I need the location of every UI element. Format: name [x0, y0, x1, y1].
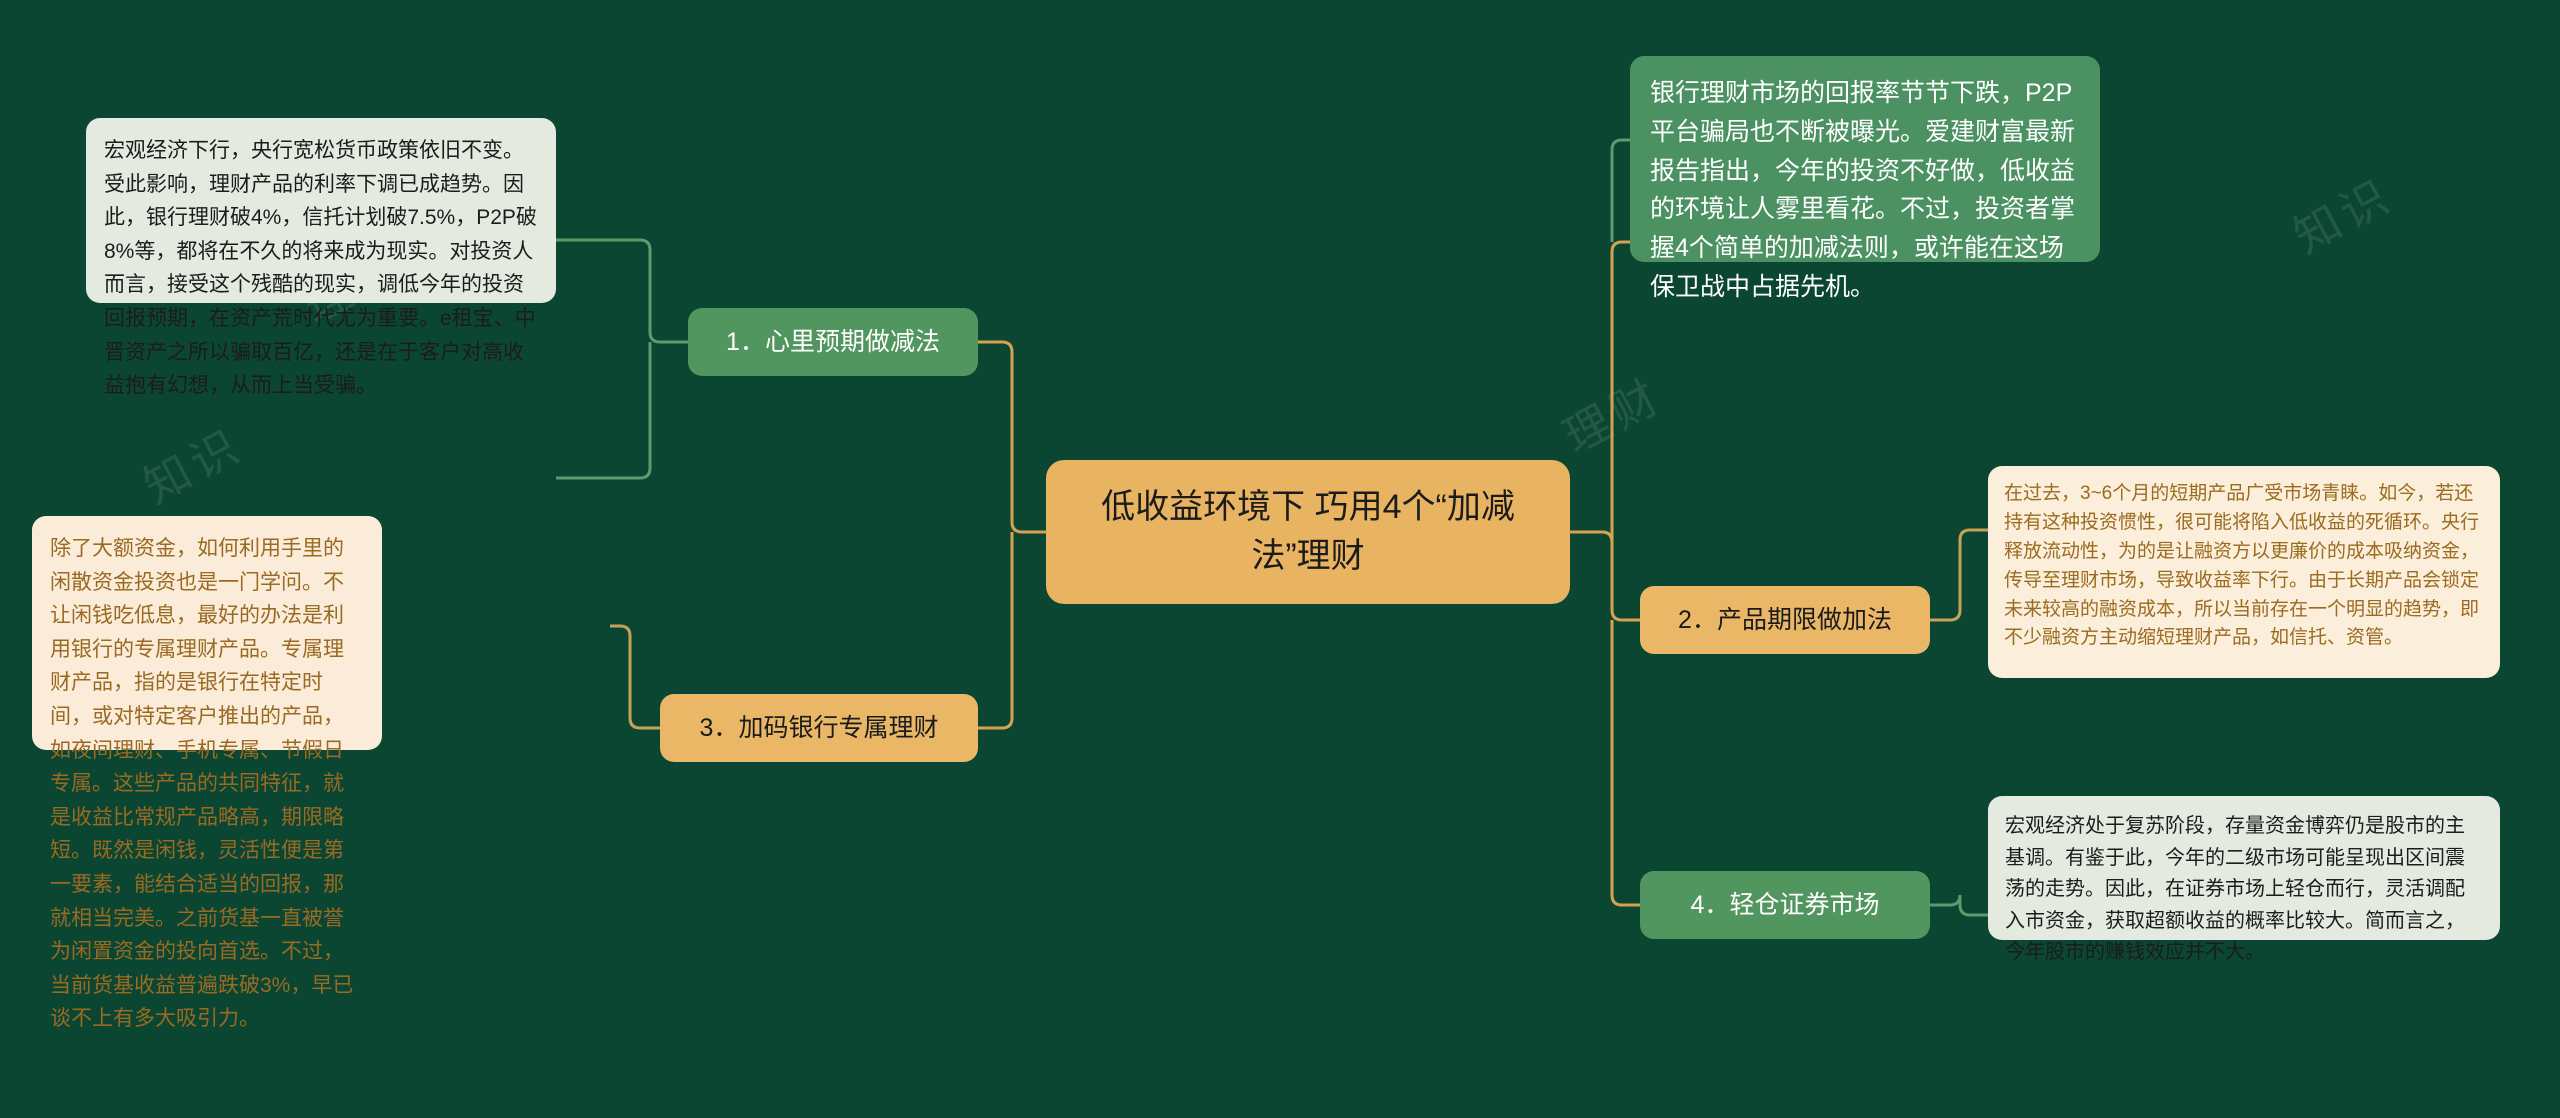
- intro-card-text: 银行理财市场的回报率节节下跌，P2P平台骗局也不断被曝光。爱建财富最新报告指出，…: [1650, 79, 2075, 301]
- branch-node-3-label: 3．加码银行专属理财: [700, 710, 939, 746]
- central-topic-node[interactable]: 低收益环境下 巧用4个“加减法”理财: [1046, 460, 1570, 604]
- branch-node-4[interactable]: 4．轻仓证券市场: [1640, 871, 1930, 939]
- detail-card-2-text: 在过去，3~6个月的短期产品广受市场青睐。如今，若还持有这种投资惯性，很可能将陷…: [2004, 483, 2479, 648]
- branch-node-2[interactable]: 2．产品期限做加法: [1640, 586, 1930, 654]
- watermark-text: 理财: [1551, 359, 1674, 466]
- intro-card: 银行理财市场的回报率节节下跌，P2P平台骗局也不断被曝光。爱建财富最新报告指出，…: [1630, 56, 2100, 262]
- branch-node-4-label: 4．轻仓证券市场: [1691, 887, 1880, 923]
- detail-card-1-text: 宏观经济下行，央行宽松货币政策依旧不变。受此影响，理财产品的利率下调已成趋势。因…: [104, 139, 537, 397]
- central-topic-label: 低收益环境下 巧用4个“加减法”理财: [1076, 483, 1540, 582]
- detail-card-1: 宏观经济下行，央行宽松货币政策依旧不变。受此影响，理财产品的利率下调已成趋势。因…: [86, 118, 556, 303]
- watermark-text: 知识: [131, 409, 254, 516]
- detail-card-3-text: 除了大额资金，如何利用手里的闲散资金投资也是一门学问。不让闲钱吃低息，最好的办法…: [50, 537, 353, 1030]
- branch-node-2-label: 2．产品期限做加法: [1678, 602, 1892, 638]
- detail-card-4: 宏观经济处于复苏阶段，存量资金博弈仍是股市的主基调。有鉴于此，今年的二级市场可能…: [1988, 796, 2500, 940]
- detail-card-3: 除了大额资金，如何利用手里的闲散资金投资也是一门学问。不让闲钱吃低息，最好的办法…: [32, 516, 382, 750]
- watermark-text: 知识: [2281, 159, 2404, 266]
- detail-card-4-text: 宏观经济处于复苏阶段，存量资金博弈仍是股市的主基调。有鉴于此，今年的二级市场可能…: [2005, 815, 2465, 963]
- mindmap-canvas: 理财 知识 理财 知识 低收益环境下 巧用4个“加减法”理财 1．心里预期做减法…: [0, 0, 2560, 1118]
- branch-node-1[interactable]: 1．心里预期做减法: [688, 308, 978, 376]
- branch-node-3[interactable]: 3．加码银行专属理财: [660, 694, 978, 762]
- detail-card-2: 在过去，3~6个月的短期产品广受市场青睐。如今，若还持有这种投资惯性，很可能将陷…: [1988, 466, 2500, 678]
- branch-node-1-label: 1．心里预期做减法: [726, 324, 940, 360]
